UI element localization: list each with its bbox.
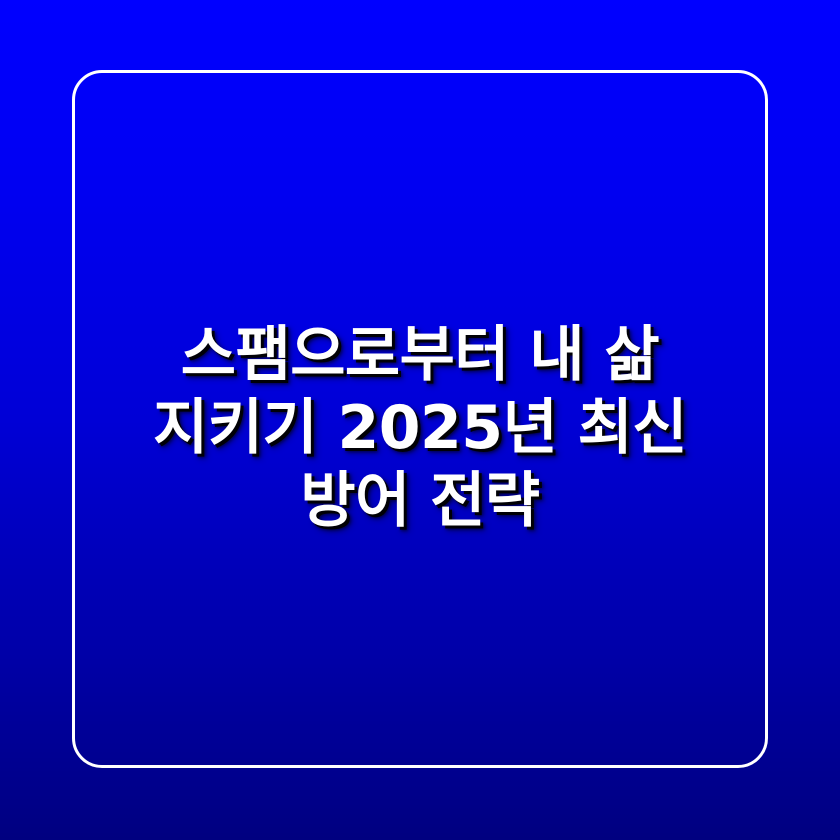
poster-canvas: 스팸으로부터 내 삶 지키기 2025년 최신 방어 전략 bbox=[0, 0, 840, 840]
headline-line-3: 방어 전략 bbox=[300, 465, 539, 538]
headline-line-2: 지키기 2025년 최신 bbox=[153, 392, 687, 465]
headline-line-1: 스팸으로부터 내 삶 bbox=[181, 319, 659, 392]
headline-block: 스팸으로부터 내 삶 지키기 2025년 최신 방어 전략 bbox=[0, 0, 840, 840]
